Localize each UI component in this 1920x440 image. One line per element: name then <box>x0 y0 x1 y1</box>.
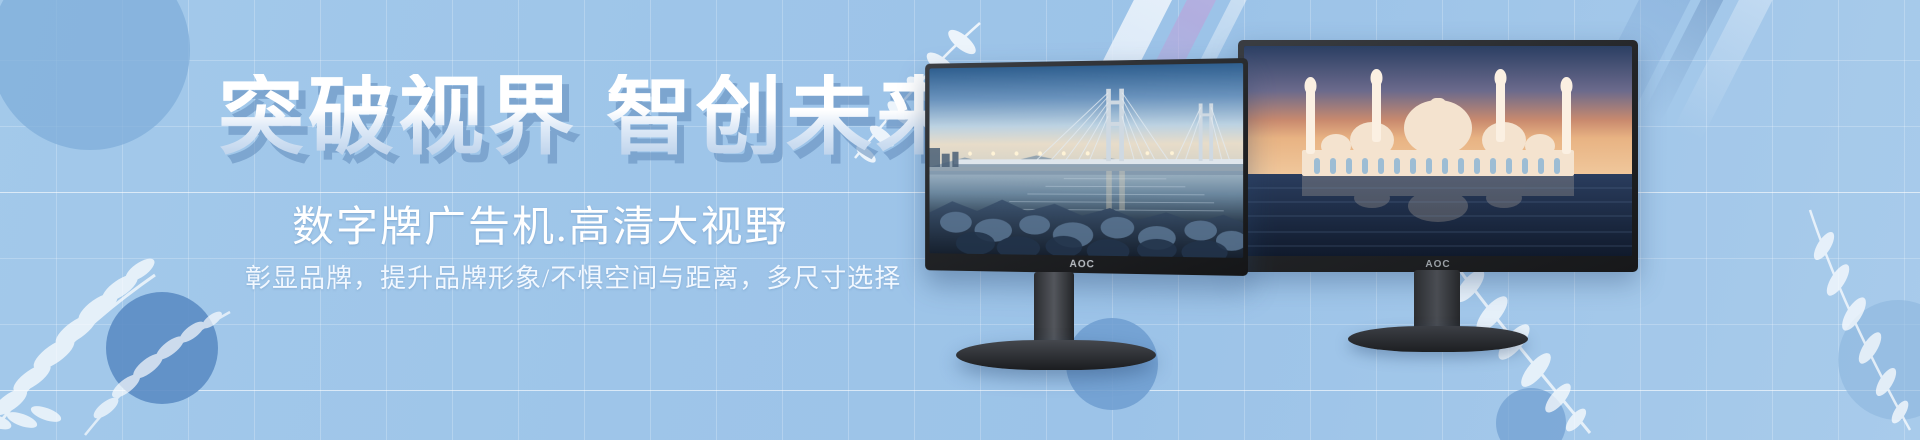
product-monitor-front: AOC <box>898 58 1368 378</box>
headline: 突破视界 智创未来 <box>218 74 966 160</box>
bridge-photo <box>929 63 1243 258</box>
monitor-bezel: AOC <box>925 58 1248 276</box>
tagline: 彰显品牌，提升品牌形象/不惧空间与距离，多尺寸选择 <box>245 258 901 295</box>
promo-banner: 突破视界 智创未来 数字牌广告机.高清大视野 彰显品牌，提升品牌形象/不惧空间与… <box>0 0 1920 440</box>
subtitle: 数字牌广告机.高清大视野 <box>292 193 789 254</box>
monitor-front-stand-base <box>956 340 1156 370</box>
monitor-front-stand-neck <box>1034 272 1074 350</box>
leaf-far-right-icon <box>1780 200 1920 440</box>
monitor-back-stand-base <box>1348 326 1528 352</box>
monitor-front-brand-label: AOC <box>925 256 1248 273</box>
copy-block: 突破视界 智创未来 数字牌广告机.高清大视野 彰显品牌，提升品牌形象/不惧空间与… <box>0 0 920 440</box>
monitor-screen <box>929 63 1243 258</box>
